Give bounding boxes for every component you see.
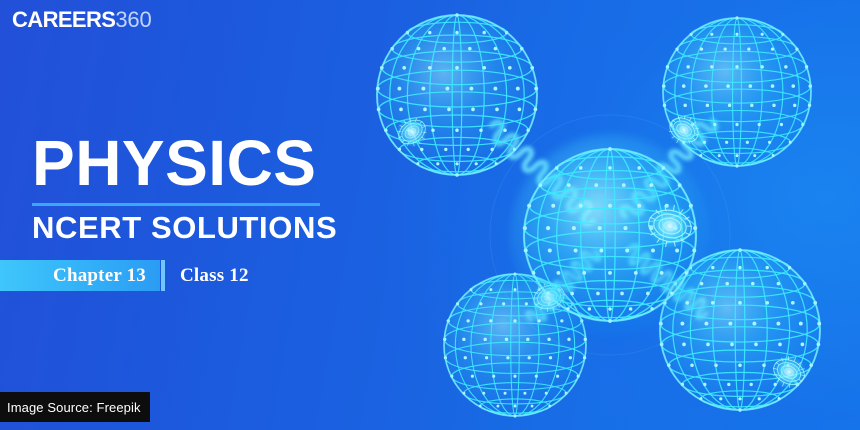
molecule-svg [352,0,860,430]
class-badge-label: Class 12 [180,265,249,287]
badge-row: Chapter 13 Class 12 [0,260,249,291]
atom-top-left [376,13,538,177]
logo-word-careers: CAREERS [12,9,115,31]
chapter-badge-label: Chapter 13 [53,265,146,287]
molecule-illustration [352,0,860,430]
banner-root: CAREERS360 PHYSICS NCERT SOLUTIONS Chapt… [0,0,860,430]
careers360-logo[interactable]: CAREERS360 [12,9,151,31]
image-source-banner: Image Source: Freepik [0,392,150,422]
class-badge[interactable]: Class 12 [165,260,249,291]
image-source-label: Image Source: Freepik [7,400,141,415]
title-underline-rule [32,203,320,206]
atom-top-right [662,16,812,167]
atom-center [510,135,710,335]
logo-word-360: 360 [115,9,151,31]
chapter-badge[interactable]: Chapter 13 [0,260,160,291]
